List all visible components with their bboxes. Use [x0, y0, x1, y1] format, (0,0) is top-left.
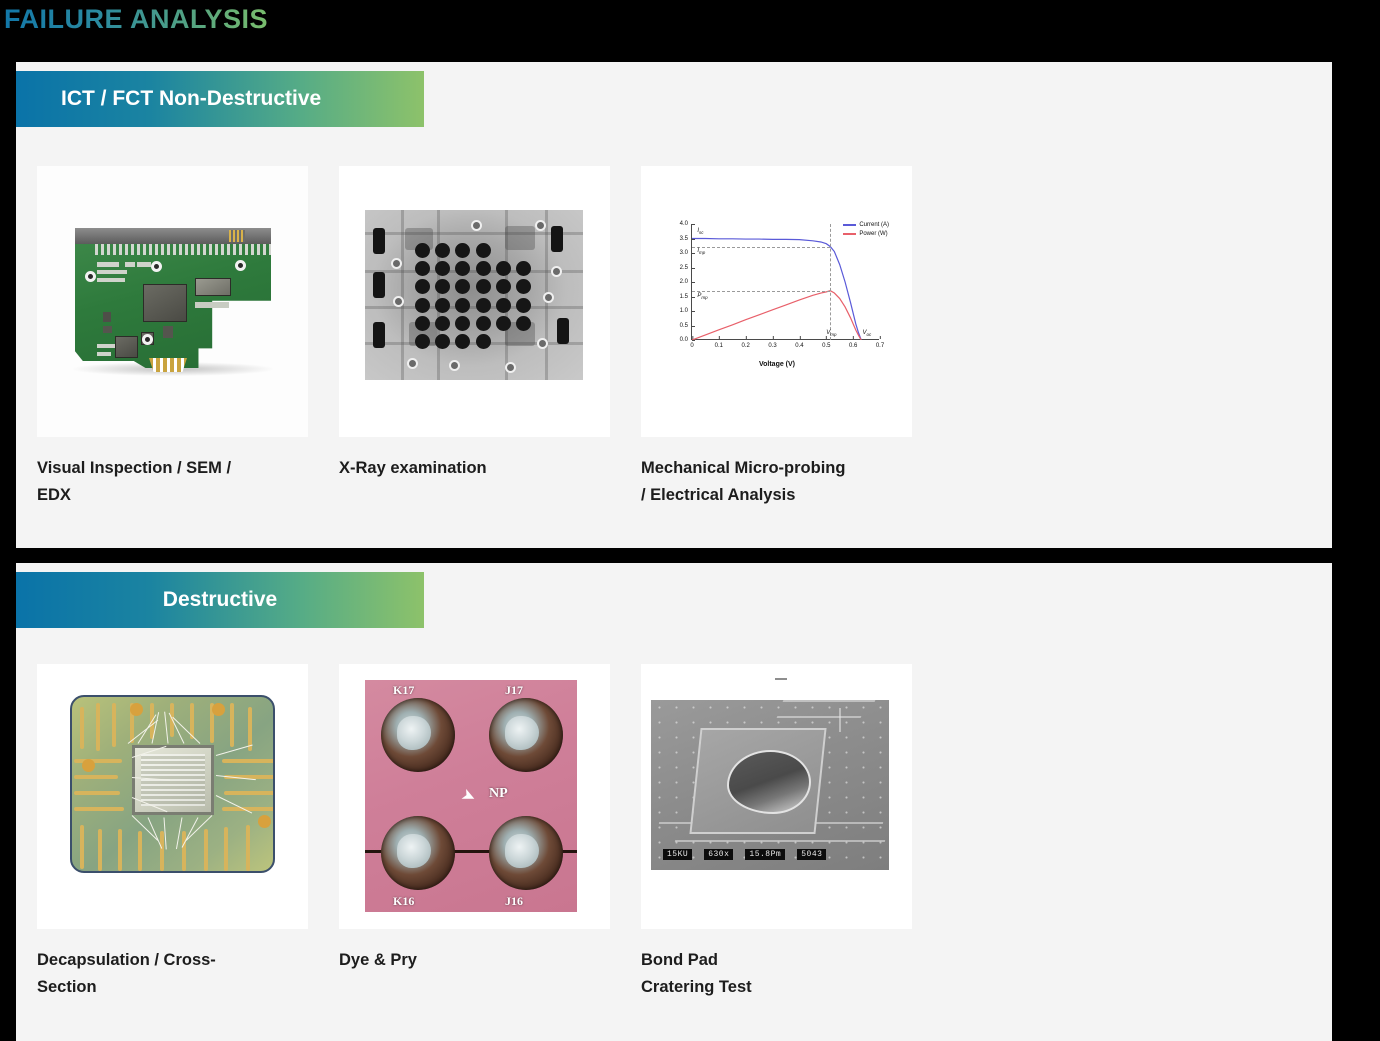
chart-plot-area: 0.00.51.01.52.02.53.03.54.000.10.20.30.4…: [691, 224, 879, 340]
section-banner-label: Destructive: [163, 588, 277, 612]
section-banner-label: ICT / FCT Non-Destructive: [61, 87, 321, 111]
chart-y-tick: 3.5: [680, 236, 692, 242]
chart-series-current: [692, 239, 861, 341]
thumbnail-decapsulation[interactable]: [37, 664, 308, 929]
chart-y-tick: 4.0: [680, 221, 692, 227]
sem-info-scale: 15.8Pm: [745, 849, 785, 860]
card-xray-examination[interactable]: X-Ray examination: [339, 166, 610, 509]
chart-x-tick: 0.1: [715, 339, 723, 349]
pad-label-j17: J17: [505, 683, 523, 698]
card-caption: Bond Pad Cratering Test: [641, 947, 912, 1001]
legend-entry-current: Current (A): [843, 222, 889, 228]
card-mechanical-micro-probing[interactable]: 0.00.51.01.52.02.53.03.54.000.10.20.30.4…: [641, 166, 912, 509]
chart-y-tick: 1.0: [680, 308, 692, 314]
chart-x-tick: 0.7: [876, 339, 884, 349]
chart-x-tick: 0.3: [768, 339, 776, 349]
chart-y-tick: 0.5: [680, 323, 692, 329]
section-banner-destructive: Destructive: [16, 572, 424, 628]
card-caption: Mechanical Micro-probing / Electrical An…: [641, 455, 912, 509]
pad-label-j16: J16: [505, 894, 523, 909]
chart-guide-pmp: [692, 291, 830, 292]
chart-x-tick: 0.2: [742, 339, 750, 349]
legend-label: Current (A): [859, 222, 889, 228]
np-arrow-icon: ➤: [459, 786, 486, 810]
chart-y-tick: 1.5: [680, 294, 692, 300]
pad-label-k16: K16: [393, 894, 414, 909]
xray-bga-image: [365, 210, 583, 380]
chart-y-tick: 3.0: [680, 250, 692, 256]
section-panel-destructive: Destructive: [16, 563, 1332, 1041]
chart-annotation-isc: Isc: [697, 228, 703, 235]
card-caption: Visual Inspection / SEM / EDX: [37, 455, 308, 509]
chart-guide-vmp: [830, 224, 831, 340]
chart-x-axis-label: Voltage (V): [661, 361, 893, 368]
chart-x-tick: 0.6: [849, 339, 857, 349]
thumbnail-iv-curve-chart[interactable]: 0.00.51.01.52.02.53.03.54.000.10.20.30.4…: [641, 166, 912, 437]
sem-info-magnification: 630x: [704, 849, 733, 860]
decapsulated-die-photo: [37, 664, 308, 929]
chart-guide-imp: [692, 247, 830, 248]
iv-curve-chart: 0.00.51.01.52.02.53.03.54.000.10.20.30.4…: [661, 218, 893, 368]
card-caption: Decapsulation / Cross- Section: [37, 947, 308, 1001]
chart-legend: Current (A) Power (W): [843, 222, 889, 240]
chart-annotation-pmp: Pmp: [697, 293, 707, 300]
chart-series-svg: [692, 224, 880, 340]
chart-x-tick: 0: [690, 339, 693, 349]
chart-x-tick: 0.4: [795, 339, 803, 349]
chart-y-tick: 2.5: [680, 265, 692, 271]
page-title: FAILURE ANALYSIS: [4, 4, 268, 35]
card-caption: X-Ray examination: [339, 455, 610, 482]
dye-and-pry-photo: K17 J17 K16 J16 ➤ NP: [365, 680, 577, 912]
np-label: NP: [489, 786, 508, 802]
pcb-photo: [37, 166, 308, 437]
scale-tick-icon: [775, 678, 787, 680]
chart-x-tick: 0.5: [822, 339, 830, 349]
legend-label: Power (W): [859, 231, 887, 237]
card-dye-and-pry[interactable]: K17 J17 K16 J16 ➤ NP Dye & Pry: [339, 664, 610, 1001]
thumbnail-bond-pad-cratering[interactable]: 15KU 630x 15.8Pm 5043: [641, 664, 912, 929]
chart-annotation-vmp: Vmp: [826, 330, 836, 337]
card-visual-inspection[interactable]: Visual Inspection / SEM / EDX: [37, 166, 308, 509]
sem-info-bar: 15KU 630x 15.8Pm 5043: [663, 849, 826, 860]
legend-entry-power: Power (W): [843, 231, 889, 237]
card-bond-pad-cratering[interactable]: 15KU 630x 15.8Pm 5043 Bond Pad Cratering…: [641, 664, 912, 1001]
thumbnail-xray-examination[interactable]: [339, 166, 610, 437]
thumbnail-dye-and-pry[interactable]: K17 J17 K16 J16 ➤ NP: [339, 664, 610, 929]
sem-info-id: 5043: [797, 849, 826, 860]
pad-label-k17: K17: [393, 683, 414, 698]
card-row-destructive: Decapsulation / Cross- Section K17 J17 K…: [37, 664, 1317, 1001]
card-row-non-destructive: Visual Inspection / SEM / EDX: [37, 166, 1317, 509]
thumbnail-visual-inspection[interactable]: [37, 166, 308, 437]
bga-solder-balls: [413, 242, 533, 350]
chart-annotation-imp: Imp: [697, 248, 705, 255]
section-banner-non-destructive: ICT / FCT Non-Destructive: [16, 71, 424, 127]
chart-y-tick: 2.0: [680, 279, 692, 285]
sem-info-voltage: 15KU: [663, 849, 692, 860]
section-panel-non-destructive: ICT / FCT Non-Destructive: [16, 62, 1332, 548]
sem-bond-pad-crater: 15KU 630x 15.8Pm 5043: [651, 700, 889, 870]
card-caption: Dye & Pry: [339, 947, 610, 974]
card-decapsulation[interactable]: Decapsulation / Cross- Section: [37, 664, 308, 1001]
chart-annotation-voc: Voc: [863, 330, 872, 337]
